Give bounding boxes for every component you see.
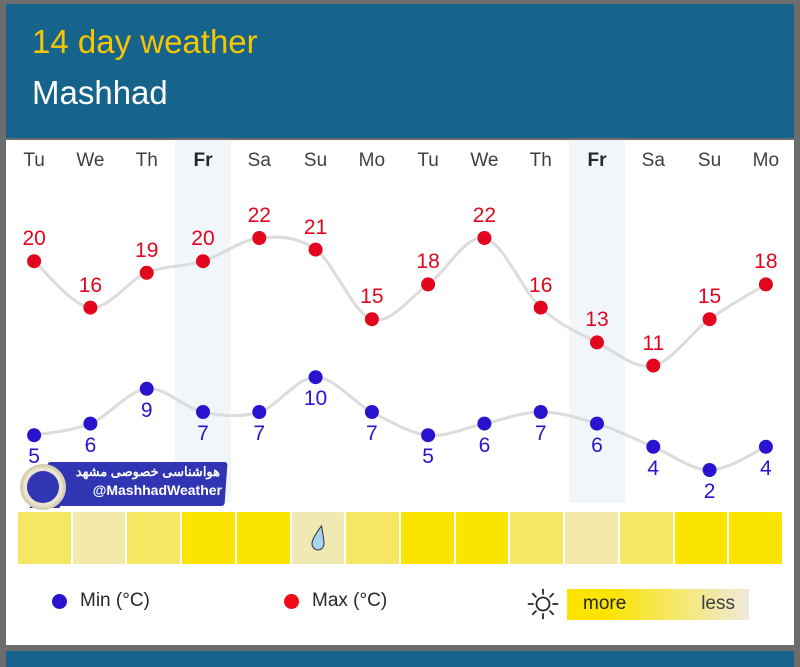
max-temp-point[interactable] xyxy=(83,301,97,315)
sunshine-gradient-bar: more less xyxy=(567,589,749,620)
sunshine-cell[interactable] xyxy=(182,512,235,564)
sunshine-cell[interactable] xyxy=(620,512,673,564)
max-temp-label: 20 xyxy=(175,227,231,251)
max-temp-point[interactable] xyxy=(590,335,604,349)
sun-icon xyxy=(526,587,560,621)
min-temp-label: 7 xyxy=(231,422,287,446)
min-temp-point[interactable] xyxy=(590,417,604,431)
min-temp-point[interactable] xyxy=(27,428,41,442)
max-temp-label: 18 xyxy=(738,250,794,274)
max-temp-label: 19 xyxy=(119,239,175,263)
legend-max-label: Max (°C) xyxy=(312,590,387,612)
page-title: 14 day weather xyxy=(32,23,258,61)
min-temp-point[interactable] xyxy=(365,405,379,419)
sunshine-cell[interactable] xyxy=(127,512,180,564)
sunshine-scale: more less xyxy=(526,587,749,621)
max-temp-point[interactable] xyxy=(252,231,266,245)
max-temp-label: 16 xyxy=(62,274,118,298)
scale-more-label: more xyxy=(583,593,626,615)
min-temp-point[interactable] xyxy=(477,417,491,431)
min-temp-label: 5 xyxy=(6,445,62,469)
min-temp-point[interactable] xyxy=(309,370,323,384)
max-temp-point[interactable] xyxy=(703,312,717,326)
weather-chart-app: 14 day weather Mashhad TuWeThFrSaSuMoTuW… xyxy=(0,0,800,667)
min-temp-point[interactable] xyxy=(196,405,210,419)
chart-legend: Min (°C) Max (°C) xyxy=(6,568,794,638)
max-temp-point[interactable] xyxy=(421,277,435,291)
min-temp-point[interactable] xyxy=(83,417,97,431)
min-temp-label: 6 xyxy=(62,434,118,458)
min-temp-label: 9 xyxy=(119,399,175,423)
max-temp-label: 15 xyxy=(344,285,400,309)
legend-min-label: Min (°C) xyxy=(80,590,150,612)
legend-item-max: Max (°C) xyxy=(284,590,387,612)
max-temp-label: 21 xyxy=(287,216,343,240)
max-temp-point[interactable] xyxy=(477,231,491,245)
scale-less-label: less xyxy=(701,593,735,615)
sunshine-cell[interactable] xyxy=(675,512,728,564)
min-temp-label: 7 xyxy=(344,422,400,446)
max-temp-point[interactable] xyxy=(534,301,548,315)
min-temp-point[interactable] xyxy=(646,440,660,454)
sunshine-cell[interactable] xyxy=(73,512,126,564)
min-temp-point[interactable] xyxy=(140,382,154,396)
max-temp-label: 15 xyxy=(681,285,737,309)
max-temp-label: 20 xyxy=(6,227,62,251)
min-temp-label: 6 xyxy=(456,434,512,458)
min-temp-label: 2 xyxy=(681,480,737,504)
min-temp-point[interactable] xyxy=(534,405,548,419)
max-temp-point[interactable] xyxy=(140,266,154,280)
city-name: Mashhad xyxy=(32,74,168,112)
max-temp-label: 22 xyxy=(231,204,287,228)
chart-card: TuWeThFrSaSuMoTuWeThFrSaSuMo 20161920222… xyxy=(6,140,794,645)
sunshine-cell[interactable] xyxy=(18,512,71,564)
sunshine-bar xyxy=(18,512,782,564)
min-temp-point[interactable] xyxy=(703,463,717,477)
max-temp-label: 11 xyxy=(625,332,681,356)
max-temp-point[interactable] xyxy=(27,254,41,268)
min-temp-point[interactable] xyxy=(252,405,266,419)
legend-item-min: Min (°C) xyxy=(52,590,150,612)
min-temp-point[interactable] xyxy=(759,440,773,454)
min-temp-label: 6 xyxy=(569,434,625,458)
max-temp-label: 22 xyxy=(456,204,512,228)
min-legend-dot-icon xyxy=(52,594,67,609)
max-temp-point[interactable] xyxy=(759,277,773,291)
footer-bar xyxy=(6,651,794,667)
water-drop-icon xyxy=(309,525,327,551)
header-banner: 14 day weather Mashhad xyxy=(6,4,794,138)
sunshine-cell[interactable] xyxy=(565,512,618,564)
max-temp-label: 13 xyxy=(569,308,625,332)
max-temp-label: 16 xyxy=(513,274,569,298)
max-temp-label: 18 xyxy=(400,250,456,274)
min-temp-label: 7 xyxy=(513,422,569,446)
sunshine-cell[interactable] xyxy=(346,512,399,564)
max-temp-point[interactable] xyxy=(646,359,660,373)
max-temp-point[interactable] xyxy=(309,243,323,257)
min-temp-label: 4 xyxy=(738,457,794,481)
max-legend-dot-icon xyxy=(284,594,299,609)
sunshine-cell[interactable] xyxy=(510,512,563,564)
min-temp-point[interactable] xyxy=(421,428,435,442)
sunshine-cell[interactable] xyxy=(401,512,454,564)
min-temp-label: 4 xyxy=(625,457,681,481)
max-temp-point[interactable] xyxy=(365,312,379,326)
min-temp-label: 5 xyxy=(400,445,456,469)
min-temp-label: 7 xyxy=(175,422,231,446)
sunshine-cell[interactable] xyxy=(456,512,509,564)
sunshine-cell[interactable] xyxy=(292,512,345,564)
max-temp-point[interactable] xyxy=(196,254,210,268)
min-temp-label: 10 xyxy=(287,387,343,411)
sunshine-cell[interactable] xyxy=(237,512,290,564)
sunshine-cell[interactable] xyxy=(729,512,782,564)
